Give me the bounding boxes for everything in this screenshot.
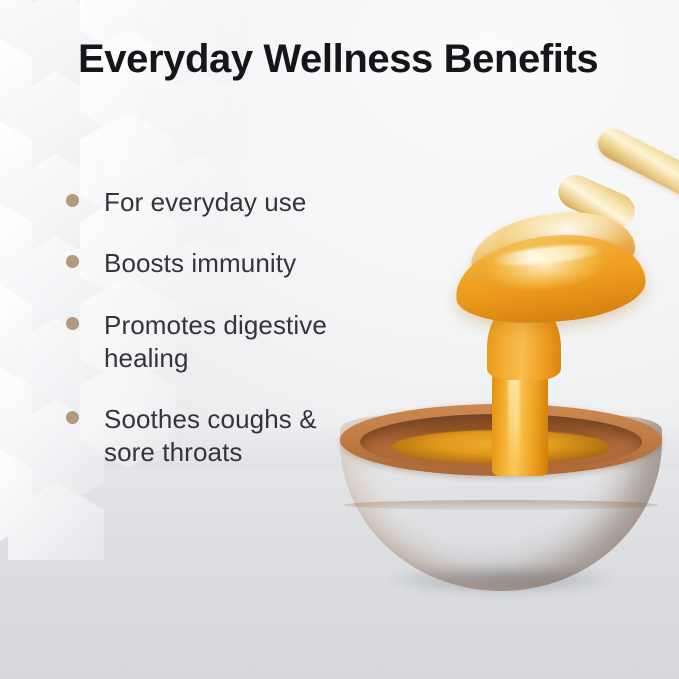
bullet-dot-icon: [66, 255, 79, 268]
bullet-dot-icon: [66, 194, 79, 207]
list-item-label: Boosts immunity: [104, 247, 296, 280]
list-item: Boosts immunity: [66, 247, 366, 280]
list-item: For everyday use: [66, 186, 366, 219]
bullet-dot-icon: [66, 317, 79, 330]
wooden-bowl-band: [344, 500, 658, 510]
page-title: Everyday Wellness Benefits: [78, 37, 598, 82]
list-item-label: Promotes digestive healing: [104, 309, 354, 376]
bullet-dot-icon: [66, 411, 79, 424]
list-item-label: For everyday use: [104, 186, 306, 219]
list-item: Promotes digestive healing: [66, 309, 366, 376]
benefits-list: For everyday use Boosts immunity Promote…: [66, 186, 366, 470]
list-item: Soothes coughs & sore throats: [66, 403, 366, 470]
list-item-label: Soothes coughs & sore throats: [104, 403, 319, 470]
benefits-infographic-card: Everyday Wellness Benefits For everyday …: [0, 0, 679, 679]
